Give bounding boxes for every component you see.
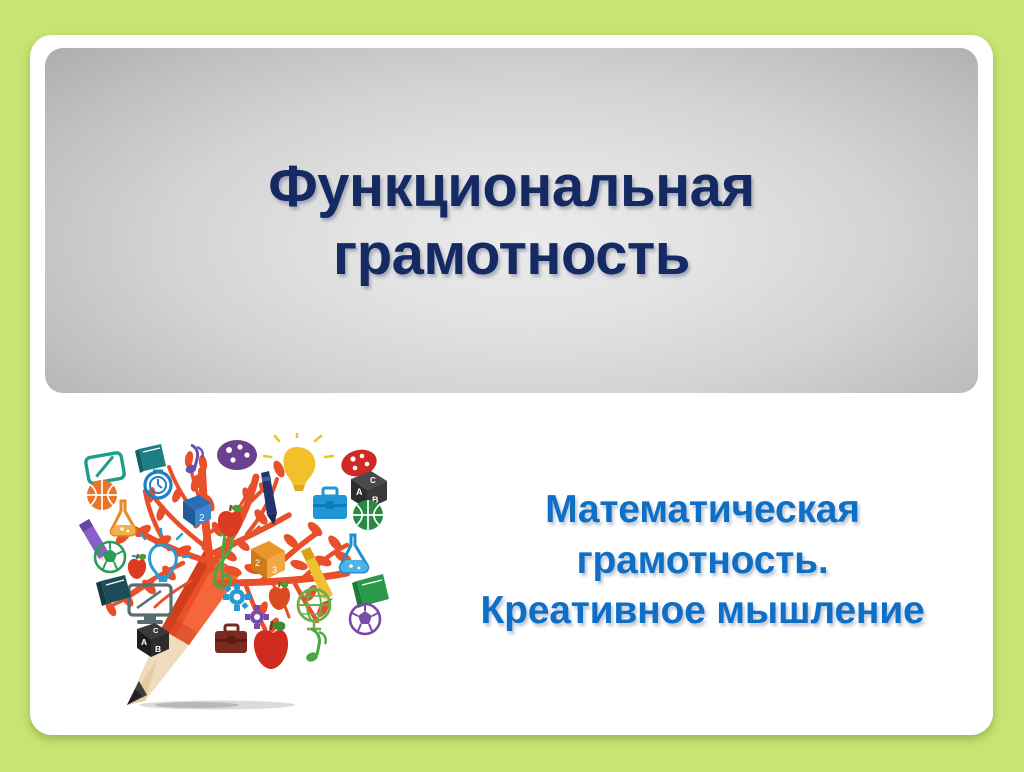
basketball-icon <box>87 480 117 510</box>
svg-text:A: A <box>141 637 147 647</box>
svg-text:2: 2 <box>199 513 205 524</box>
svg-text:B: B <box>155 644 161 654</box>
svg-text:2: 2 <box>255 558 260 568</box>
briefcase-icon <box>313 488 347 519</box>
presentation-slide: Функциональная грамотность <box>0 0 1024 772</box>
soccer-ball-icon <box>350 604 380 634</box>
music-note-icon <box>305 629 326 663</box>
svg-text:3: 3 <box>272 565 277 575</box>
slide-card: Функциональная грамотность <box>30 35 993 735</box>
apple-icon <box>269 582 290 610</box>
svg-text:C: C <box>370 476 376 485</box>
book-icon <box>352 574 389 608</box>
briefcase-icon <box>215 625 247 653</box>
basketball-icon <box>353 500 383 530</box>
book-icon <box>135 444 166 473</box>
page-subtitle: Математическая грамотность. Креативное м… <box>420 485 985 637</box>
svg-text:C: C <box>153 626 159 635</box>
apple-icon <box>128 554 146 579</box>
svg-text:A: A <box>356 487 363 497</box>
pencil-tree-illustration: 2 <box>65 433 405 725</box>
title-plate: Функциональная грамотность <box>45 48 978 393</box>
palette-icon <box>217 440 257 470</box>
flask-icon <box>111 501 135 535</box>
clock-icon <box>145 471 171 498</box>
page-title: Функциональная грамотность <box>228 153 794 288</box>
slide-body: 2 <box>30 393 993 735</box>
